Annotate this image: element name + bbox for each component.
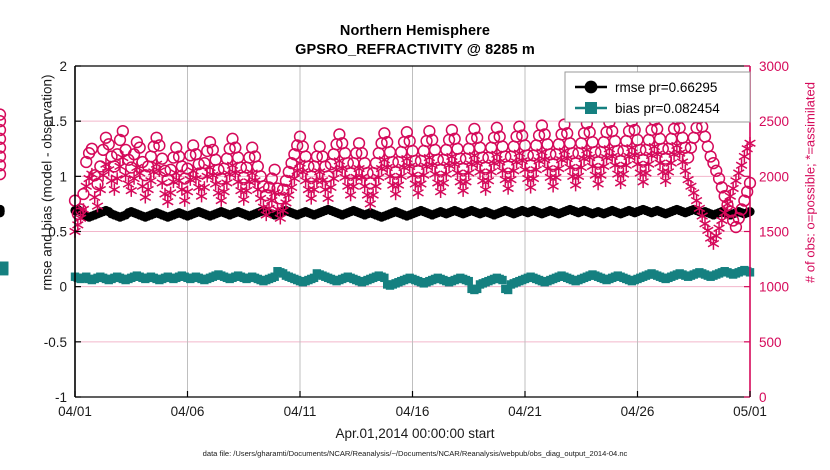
plot-canvas: -1-0.500.511.520500100015002000250030000… [0,0,830,470]
tick-label-right: 1500 [759,225,789,240]
legend-label-rmse: rmse pr=0.66295 [615,80,717,95]
tick-label-x: 04/16 [396,404,430,419]
tick-label-left: 2 [59,59,67,74]
y-axis-left-label: rmse and bias (model - observation) [40,18,55,348]
tick-label-left: 0 [59,280,67,295]
tick-label-right: 2500 [759,114,789,129]
legend-label-bias: bias pr=0.082454 [615,101,720,116]
data-point-bias [465,277,473,285]
tick-label-x: 05/01 [733,404,767,419]
tick-label-x: 04/21 [508,404,542,419]
tick-label-right: 0 [759,390,767,405]
figure-root: Northern Hemisphere GPSRO_REFRACTIVITY @… [0,0,830,470]
y-axis-right-label: # of obs: o=possible; *=assimilated [803,18,818,348]
tick-label-left: -1 [55,390,67,405]
tick-label-left: 1 [59,169,67,184]
tick-label-right: 1000 [759,280,789,295]
legend-marker-rmse [585,81,598,94]
tick-label-right: 500 [759,335,782,350]
legend: rmse pr=0.66295bias pr=0.082454 [565,72,750,122]
tick-label-x: 04/11 [284,404,317,419]
legend-marker-bias [585,102,597,114]
data-file-footer: data file: /Users/gharamti/Documents/NCA… [0,449,830,458]
tick-label-right: 2000 [759,169,789,184]
x-axis-label: Apr.01,2014 00:00:00 start [0,426,830,441]
tick-label-x: 04/26 [621,404,655,419]
data-point-bias [498,276,506,284]
tick-label-x: 04/06 [171,404,205,419]
data-point-bias [0,262,8,270]
tick-label-x: 04/01 [58,404,92,419]
tick-label-right: 3000 [759,59,789,74]
data-point-possible [0,109,5,120]
